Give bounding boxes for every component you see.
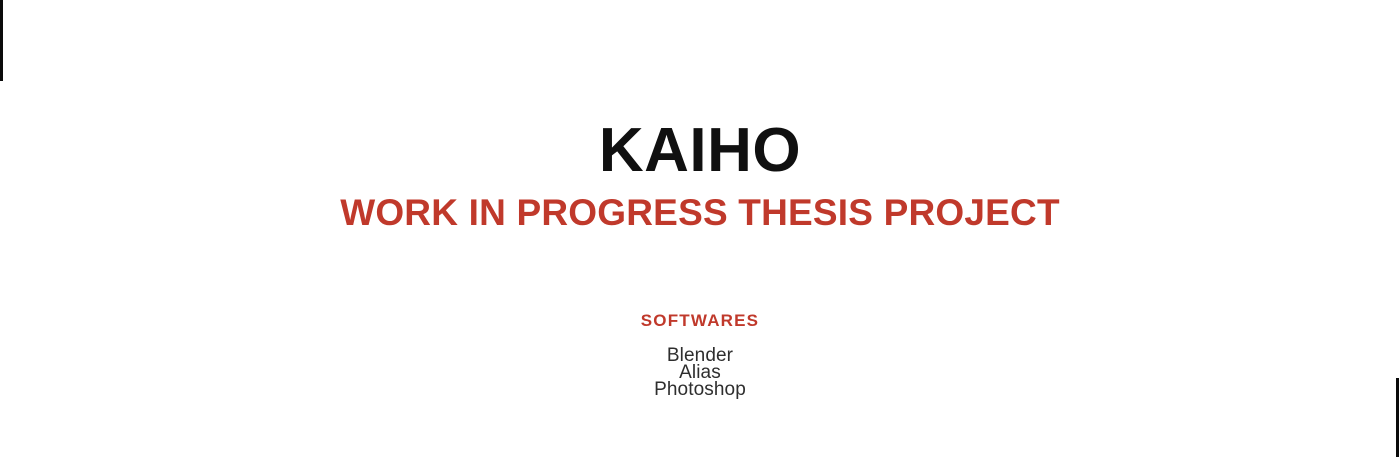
title-block: KAIHO WORK IN PROGRESS THESIS PROJECT xyxy=(340,120,1060,231)
software-section-heading: SOFTWARES xyxy=(641,312,759,329)
list-item: Photoshop xyxy=(641,381,759,398)
software-block: SOFTWARES Blender Alias Photoshop xyxy=(641,312,759,398)
content-stack: KAIHO WORK IN PROGRESS THESIS PROJECT SO… xyxy=(0,0,1400,457)
project-presentation-slide: KAIHO WORK IN PROGRESS THESIS PROJECT SO… xyxy=(0,0,1400,457)
page-subtitle: WORK IN PROGRESS THESIS PROJECT xyxy=(340,194,1060,231)
page-title: KAIHO xyxy=(340,120,1060,182)
software-list: Blender Alias Photoshop xyxy=(641,347,759,398)
